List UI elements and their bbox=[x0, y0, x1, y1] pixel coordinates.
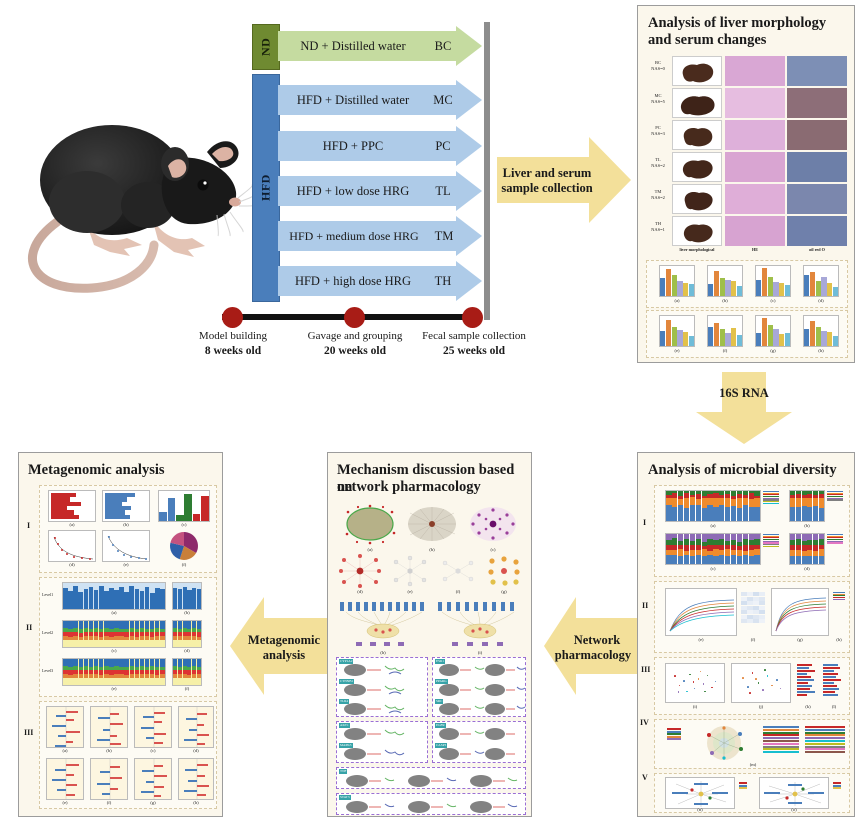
liver-col-caption-oilredo: oil red O bbox=[787, 247, 847, 252]
row-group-tm: TM bbox=[655, 189, 662, 194]
cladogram-legend bbox=[667, 728, 681, 740]
serum-bar-chart bbox=[707, 265, 743, 297]
network-graph-d bbox=[338, 553, 382, 589]
section-roman-ii: II bbox=[642, 601, 648, 610]
microbial-sublabel: (b) bbox=[789, 523, 825, 528]
arrow-metagenomic-label-1: Metagenomic bbox=[238, 633, 330, 648]
panel-mechanism-title-2: network pharmacology bbox=[337, 479, 481, 496]
microbial-sublabel: (g) bbox=[771, 637, 829, 642]
liver-row-label-pc: PC NAS=3 bbox=[646, 125, 670, 137]
microbial-sublabel: (n) bbox=[665, 807, 735, 812]
liver-photo bbox=[672, 184, 722, 214]
microbial-section-ii: (e) (f) (g) (h) bbox=[654, 581, 850, 653]
oil-red-o-image bbox=[787, 56, 847, 86]
mouse-illustration bbox=[2, 40, 252, 300]
function-abundance-summary bbox=[172, 620, 202, 648]
metagenomic-sublabel: (c) bbox=[134, 748, 172, 753]
he-stain-image bbox=[725, 120, 785, 150]
docking-tag: AKT1 bbox=[339, 723, 350, 728]
taxa-composition-chart bbox=[665, 533, 761, 565]
mechanism-sublabel: (e) bbox=[388, 589, 432, 594]
treatment-arrow-th: HFD + high dose HRG TH bbox=[278, 266, 482, 296]
treatment-arrow-mc: HFD + Distilled water MC bbox=[278, 85, 482, 115]
pathway-diagram-i bbox=[434, 598, 526, 650]
network-legend bbox=[739, 782, 747, 789]
mechanism-sublabel: (i) bbox=[434, 650, 526, 655]
panel-liver-title-1: Analysis of liver morphology bbox=[648, 15, 826, 32]
oil-red-o-image bbox=[787, 152, 847, 182]
metagenomic-sublabel: (d) bbox=[172, 648, 202, 653]
panel-microbial-diversity: Analysis of microbial diversity I II III… bbox=[637, 452, 855, 817]
microbial-sublabel: (l) bbox=[823, 704, 845, 709]
liver-photo bbox=[672, 216, 722, 246]
arrow-metagenomic-analysis: Metagenomic analysis bbox=[228, 592, 332, 700]
arrow-16s-rna-label: 16S RNA bbox=[694, 386, 794, 401]
treatment-code-bc: BC bbox=[428, 31, 458, 61]
function-abundance-summary bbox=[172, 658, 202, 686]
docking-tag: CASP3 bbox=[435, 743, 447, 748]
serum-sublabel: (h) bbox=[803, 348, 839, 353]
taxa-pie-chart bbox=[162, 530, 206, 562]
mechanism-sublabel: (g) bbox=[484, 589, 524, 594]
metagenomic-sublabel: (a) bbox=[48, 522, 96, 527]
liver-col-caption-he: HE bbox=[725, 247, 785, 252]
panel-microbial-title: Analysis of microbial diversity bbox=[648, 462, 837, 479]
metagenomic-sublabel: (b) bbox=[172, 610, 202, 615]
diverging-bar-chart bbox=[178, 706, 214, 748]
section-roman-i: I bbox=[27, 521, 30, 530]
treatment-arrow-pc: HFD + PPC PC bbox=[278, 131, 482, 161]
pca-scatter-plot bbox=[665, 663, 725, 703]
liver-row-label-bc: BC NAS=0 bbox=[646, 60, 670, 72]
metagenomic-section-ii: Level1 Level2 Level3 (a) (b) bbox=[39, 577, 217, 697]
mechanism-sublabel: (d) bbox=[338, 589, 382, 594]
row-nas-tm: NAS=2 bbox=[651, 195, 665, 200]
diverging-bar-chart bbox=[134, 758, 172, 800]
treatment-label-mc: HFD + Distilled water bbox=[278, 85, 428, 115]
network-graph-c bbox=[466, 503, 520, 547]
lefse-bar-chart bbox=[797, 664, 819, 702]
treatment-arrow-tm: HFD + medium dose HRG TM bbox=[278, 221, 482, 251]
docking-tag: MAPK3 bbox=[339, 743, 353, 748]
level-label-3: Level3 bbox=[42, 668, 53, 673]
metagenomic-sublabel: (g) bbox=[134, 800, 172, 805]
panel-metagenomic-analysis: Metagenomic analysis I II III (a) bbox=[18, 452, 223, 817]
treatment-arrow-bc: ND + Distilled water BC bbox=[278, 31, 482, 61]
treatment-code-pc: PC bbox=[428, 131, 458, 161]
timeline-label-3: Fecal sample collection bbox=[410, 330, 538, 342]
serum-sublabel: (b) bbox=[707, 298, 743, 303]
panel-liver-title-2: and serum changes bbox=[648, 32, 766, 49]
serum-chart-row-1: (a) (b) (c) (d) bbox=[646, 260, 848, 308]
microbial-sublabel: (k) bbox=[797, 704, 819, 709]
microbial-sublabel: (e) bbox=[665, 637, 737, 642]
network-graph-g bbox=[484, 553, 524, 589]
diverging-bar-chart bbox=[46, 706, 84, 748]
pathway-diagram-h bbox=[336, 598, 430, 650]
enrichment-bar-chart bbox=[48, 490, 96, 522]
diverging-bar-chart bbox=[134, 706, 172, 748]
liver-photo bbox=[672, 152, 722, 182]
docking-group-4: EGFR CASP3 bbox=[432, 721, 526, 763]
row-group-bc: BC bbox=[655, 60, 661, 65]
rank-abundance-plot bbox=[48, 530, 96, 562]
serum-bar-chart bbox=[755, 265, 791, 297]
row-nas-bc: NAS=0 bbox=[651, 66, 665, 71]
serum-sublabel: (d) bbox=[803, 298, 839, 303]
rarefaction-curve bbox=[665, 588, 737, 636]
treatment-arrow-tl: HFD + low dose HRG TL bbox=[278, 176, 482, 206]
he-stain-image bbox=[725, 88, 785, 118]
metagenomic-section-iii: (a) (b) (c) (d) bbox=[39, 701, 217, 809]
microbial-sublabel: (a) bbox=[665, 523, 761, 528]
timeline-dot-2 bbox=[344, 307, 365, 328]
microbial-sublabel: (j) bbox=[731, 704, 791, 709]
serum-bar-chart bbox=[803, 265, 839, 297]
docking-group-3: AKT1 MAPK3 bbox=[336, 721, 428, 763]
mechanism-sublabel: (b) bbox=[404, 547, 460, 552]
taxa-legend bbox=[763, 534, 779, 547]
mechanism-sublabel: (a) bbox=[342, 547, 398, 552]
metagenomic-sublabel: (a) bbox=[62, 610, 166, 615]
he-stain-image bbox=[725, 152, 785, 182]
function-abundance-chart bbox=[62, 620, 166, 648]
correlation-network-plot bbox=[665, 777, 735, 809]
microbial-section-v: (n) (o) bbox=[654, 773, 850, 813]
metagenomic-sublabel: (b) bbox=[90, 748, 128, 753]
liver-photo bbox=[672, 56, 722, 86]
docking-tag: CYP1A2 bbox=[339, 659, 353, 664]
docking-tag: TLR4 bbox=[339, 699, 349, 704]
diverging-bar-chart bbox=[90, 706, 128, 748]
taxa-legend bbox=[763, 491, 779, 504]
metagenomic-sublabel: (c) bbox=[158, 522, 210, 527]
row-group-th: TH bbox=[655, 221, 661, 226]
section-roman-iv: IV bbox=[640, 718, 649, 727]
timeline-dot-1 bbox=[222, 307, 243, 328]
panel-liver-morphology: Analysis of liver morphology and serum c… bbox=[637, 5, 855, 363]
oil-red-o-image bbox=[787, 120, 847, 150]
serum-sublabel: (c) bbox=[755, 298, 791, 303]
serum-bar-chart bbox=[755, 315, 791, 347]
treatment-label-th: HFD + high dose HRG bbox=[278, 266, 428, 296]
microbial-sublabel: (h) bbox=[831, 637, 847, 642]
serum-sublabel: (e) bbox=[659, 348, 695, 353]
lefse-bar-chart bbox=[823, 664, 845, 702]
serum-sublabel: (g) bbox=[755, 348, 791, 353]
row-nas-th: NAS=1 bbox=[651, 227, 665, 232]
cladogram-plot bbox=[693, 724, 755, 762]
microbial-section-i: (a) (b) bbox=[654, 485, 850, 577]
docking-group-5: TNF bbox=[336, 767, 526, 789]
section-roman-ii: II bbox=[26, 623, 32, 632]
function-abundance-chart bbox=[62, 658, 166, 686]
section-roman-v: V bbox=[642, 773, 648, 782]
taxa-composition-chart bbox=[665, 490, 761, 522]
docking-group-1: CYP1A2 CTNNB1 TLR4 bbox=[336, 657, 428, 717]
arrow-network-label-1: Network bbox=[554, 633, 640, 648]
he-stain-image bbox=[725, 184, 785, 214]
docking-group-6: STAT3 bbox=[336, 793, 526, 815]
collection-rail bbox=[484, 22, 490, 320]
function-abundance-summary bbox=[172, 582, 202, 610]
serum-bar-chart bbox=[659, 265, 695, 297]
mechanism-sublabel: (c) bbox=[466, 547, 520, 552]
panel-metagenomic-title: Metagenomic analysis bbox=[28, 462, 165, 479]
metagenomic-sublabel: (d) bbox=[48, 562, 96, 567]
treatment-label-bc: ND + Distilled water bbox=[278, 31, 428, 61]
rank-abundance-plot bbox=[102, 530, 150, 562]
metagenomic-sublabel: (f) bbox=[90, 800, 128, 805]
section-roman-iii: III bbox=[641, 665, 650, 674]
liver-row-label-th: TH NAS=1 bbox=[646, 221, 670, 233]
docking-tag: ESR1 bbox=[435, 659, 445, 664]
liver-photo bbox=[672, 88, 722, 118]
oil-red-o-image bbox=[787, 184, 847, 214]
timeline-dot-3 bbox=[462, 307, 483, 328]
liver-photo bbox=[672, 120, 722, 150]
mechanism-sublabel: (f) bbox=[438, 589, 478, 594]
diverging-bar-chart bbox=[90, 758, 128, 800]
microbial-sublabel: (o) bbox=[759, 807, 829, 812]
arrow-liver-sample-collection: Liver and serum sample collection bbox=[497, 135, 631, 225]
treatment-label-tm: HFD + medium dose HRG bbox=[278, 221, 430, 251]
microbial-sublabel: (d) bbox=[789, 566, 825, 571]
metagenomic-sublabel: (f) bbox=[162, 562, 206, 567]
serum-bar-chart bbox=[659, 315, 695, 347]
serum-bar-chart bbox=[803, 315, 839, 347]
pca-scatter-plot bbox=[731, 663, 791, 703]
row-group-mc: MC bbox=[654, 93, 661, 98]
curve-legend bbox=[833, 592, 845, 600]
liver-image-grid: BC NAS=0 MC NAS=5 PC NAS=3 TL NAS=2 TM N… bbox=[646, 54, 848, 254]
treatment-code-tm: TM bbox=[430, 221, 458, 251]
liver-col-caption-morphology: liver morphological bbox=[672, 247, 722, 252]
diet-bar-nd: ND bbox=[252, 24, 280, 70]
enrichment-bar-chart bbox=[102, 490, 150, 522]
metagenomic-sublabel: (a) bbox=[46, 748, 84, 753]
diverging-bar-chart bbox=[46, 758, 84, 800]
row-nas-mc: NAS=5 bbox=[651, 99, 665, 104]
docking-tag: PPARG bbox=[435, 679, 448, 684]
metagenomic-sublabel: (e) bbox=[62, 686, 166, 691]
cladogram-taxa-legend bbox=[763, 726, 799, 760]
metagenomic-sublabel: (f) bbox=[172, 686, 202, 691]
mechanism-sublabel: (h) bbox=[336, 650, 430, 655]
arrow-network-pharmacology: Network pharmacology bbox=[542, 592, 642, 700]
rarefaction-curve bbox=[771, 588, 829, 636]
arrow-metagenomic-label-2: analysis bbox=[238, 648, 330, 663]
section-roman-i: I bbox=[643, 518, 646, 527]
diversity-index-table bbox=[741, 592, 765, 626]
taxa-legend bbox=[827, 491, 843, 501]
serum-sublabel: (f) bbox=[707, 348, 743, 353]
taxa-composition-chart bbox=[789, 490, 825, 522]
docking-group-2: ESR1 PPARG SRC bbox=[432, 657, 526, 717]
treatment-label-pc: HFD + PPC bbox=[278, 131, 428, 161]
he-stain-image bbox=[725, 216, 785, 246]
microbial-sublabel: (m) bbox=[655, 762, 851, 767]
row-nas-pc: NAS=3 bbox=[651, 131, 665, 136]
arrow-network-label-2: pharmacology bbox=[546, 648, 640, 663]
metagenomic-sublabel: (d) bbox=[178, 748, 214, 753]
level-label-1: Level1 bbox=[42, 592, 53, 597]
section-roman-iii: III bbox=[24, 728, 33, 737]
microbial-section-iii: (i) (j) (k) (l) bbox=[654, 657, 850, 715]
treatment-code-th: TH bbox=[428, 266, 458, 296]
diverging-bar-chart bbox=[178, 758, 214, 800]
network-graph-b bbox=[404, 503, 460, 547]
level-label-2: Level2 bbox=[42, 630, 53, 635]
network-legend bbox=[833, 782, 841, 789]
function-abundance-chart bbox=[62, 582, 166, 610]
panel-mechanism-network-pharmacology: Mechanism discussion based on network ph… bbox=[327, 452, 532, 817]
ko-abundance-chart bbox=[158, 490, 210, 522]
arrow-liver-label-2: sample collection bbox=[497, 181, 597, 196]
metagenomic-section-i: (a) (b) (c) bbox=[39, 485, 217, 573]
liver-row-label-mc: MC NAS=5 bbox=[646, 93, 670, 105]
oil-red-o-image bbox=[787, 88, 847, 118]
row-nas-tl: NAS=2 bbox=[651, 163, 665, 168]
metagenomic-sublabel: (e) bbox=[46, 800, 84, 805]
treatment-label-tl: HFD + low dose HRG bbox=[278, 176, 428, 206]
docking-tag: CTNNB1 bbox=[339, 679, 354, 684]
timeline-age-2: 20 weeks old bbox=[291, 345, 419, 357]
liver-row-label-tl: TL NAS=2 bbox=[646, 157, 670, 169]
metagenomic-sublabel: (e) bbox=[102, 562, 150, 567]
row-group-pc: PC bbox=[655, 125, 661, 130]
diet-bar-hfd: HFD bbox=[252, 74, 280, 302]
network-graph-e bbox=[388, 553, 432, 589]
cladogram-taxa-legend bbox=[805, 726, 845, 760]
correlation-network-plot bbox=[759, 777, 829, 809]
arrow-liver-label-1: Liver and serum bbox=[497, 166, 597, 181]
serum-chart-row-2: (e) (f) (g) (h) bbox=[646, 310, 848, 358]
timeline-age-1: 8 weeks old bbox=[172, 345, 294, 357]
serum-sublabel: (a) bbox=[659, 298, 695, 303]
network-graph-f bbox=[438, 553, 478, 589]
timeline-age-3: 25 weeks old bbox=[410, 345, 538, 357]
oil-red-o-image bbox=[787, 216, 847, 246]
docking-tag: SRC bbox=[435, 699, 443, 704]
timeline-label-1: Model building bbox=[172, 330, 294, 342]
metagenomic-sublabel: (c) bbox=[62, 648, 166, 653]
taxa-legend bbox=[827, 534, 843, 544]
row-group-tl: TL bbox=[655, 157, 661, 162]
serum-bar-chart bbox=[707, 315, 743, 347]
metagenomic-sublabel: (b) bbox=[102, 522, 150, 527]
microbial-sublabel: (f) bbox=[741, 637, 765, 642]
treatment-code-tl: TL bbox=[428, 176, 458, 206]
microbial-sublabel: (c) bbox=[665, 566, 761, 571]
microbial-section-iv: (m) bbox=[654, 719, 850, 769]
arrow-16s-rna: 16S RNA bbox=[694, 372, 794, 444]
network-graph-a bbox=[342, 503, 398, 547]
taxa-composition-chart bbox=[789, 533, 825, 565]
docking-tag: EGFR bbox=[435, 723, 446, 728]
docking-tag: TNF bbox=[339, 769, 347, 774]
metagenomic-sublabel: (h) bbox=[178, 800, 214, 805]
liver-row-label-tm: TM NAS=2 bbox=[646, 189, 670, 201]
he-stain-image bbox=[725, 56, 785, 86]
timeline-label-2: Gavage and grouping bbox=[291, 330, 419, 342]
treatment-code-mc: MC bbox=[428, 85, 458, 115]
docking-tag: STAT3 bbox=[339, 795, 351, 800]
microbial-sublabel: (i) bbox=[665, 704, 725, 709]
